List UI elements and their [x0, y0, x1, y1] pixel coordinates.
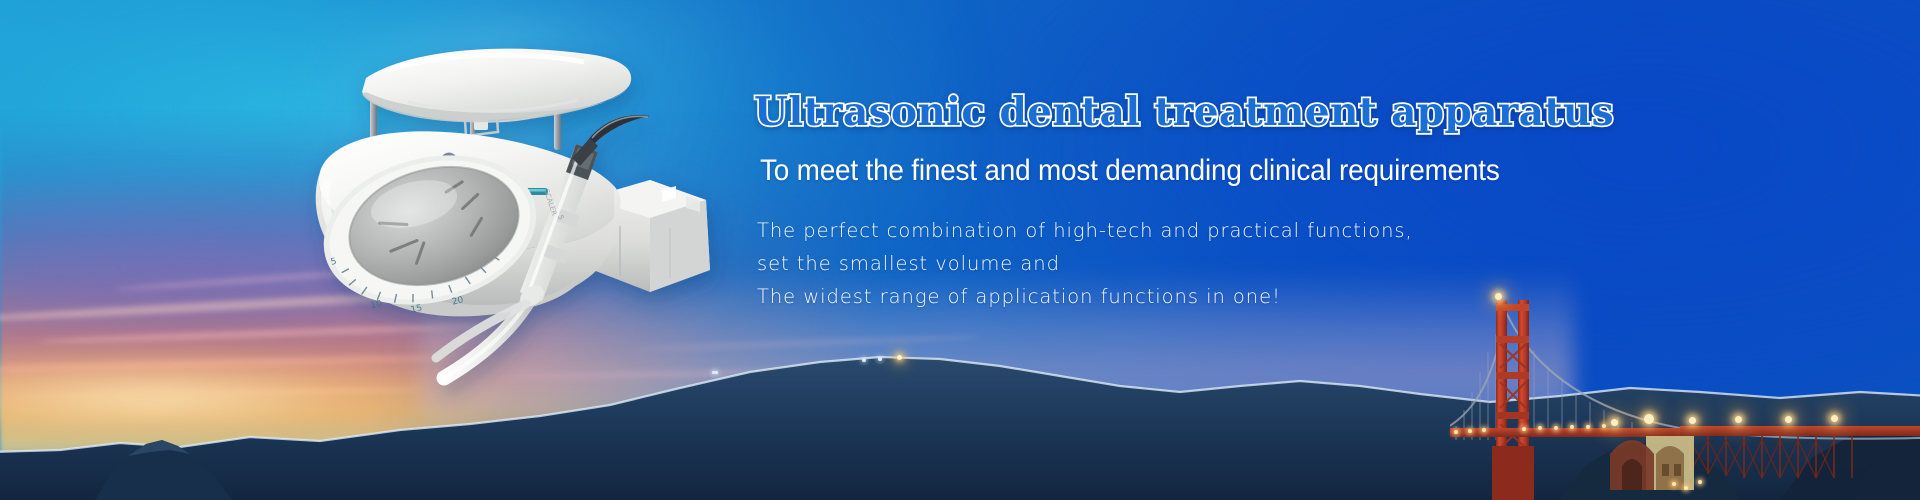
- bridge-tower: [1492, 300, 1534, 500]
- canopy-shelf: [362, 49, 631, 123]
- bridge-ground-lamp: [1672, 482, 1676, 486]
- ridge-summit-light: [897, 355, 902, 360]
- bridge-deck-lamp: [1602, 424, 1606, 428]
- bridge-deck-lamp: [1468, 429, 1472, 433]
- page-title: Ultrasonic dental treatment apparatus: [754, 92, 1652, 133]
- ultrasonic-dental-scaler: 6: [258, 40, 778, 380]
- body-line-3: The widest range of application function…: [757, 280, 1652, 313]
- ridge-summit-light: [862, 358, 866, 362]
- body-line-1: The perfect combination of high-tech and…: [757, 214, 1652, 247]
- bridge-deck-lamp: [1554, 426, 1558, 430]
- subheadline: To meet the finest and most demanding cl…: [760, 154, 1590, 187]
- bridge-deck-lamp: [1538, 426, 1542, 430]
- bridge-deck-lamp: [1482, 428, 1486, 432]
- banner-copy: Ultrasonic dental treatment apparatus To…: [752, 92, 1652, 313]
- bridge-deck-lamp-bright: [1831, 415, 1838, 422]
- bridge-ground-lamp: [1684, 486, 1688, 490]
- bridge-deck-lamp-bright: [1644, 414, 1654, 424]
- bridge-deck-lamp: [1586, 425, 1590, 429]
- bridge-deck-lamp: [1570, 425, 1574, 429]
- body-copy: The perfect combination of high-tech and…: [757, 214, 1652, 313]
- ridge-summit-light: [878, 357, 882, 361]
- bridge-deck-lamp: [1522, 427, 1526, 431]
- bridge-deck-lamp: [1454, 430, 1458, 434]
- promotional-banner: 6: [0, 0, 1920, 500]
- dial-label-15: 15: [410, 303, 424, 315]
- bridge-deck-lamp-bright: [1689, 417, 1696, 424]
- bridge-deck-lamp-bright: [1611, 419, 1618, 426]
- bridge-deck-lamp-bright: [1735, 416, 1742, 423]
- scaler-tip: [572, 115, 650, 166]
- body-line-2: set the smallest volume and: [757, 247, 1652, 280]
- bridge-deck-lamp-bright: [1785, 416, 1792, 423]
- bridge-ground-lamp: [1698, 480, 1702, 484]
